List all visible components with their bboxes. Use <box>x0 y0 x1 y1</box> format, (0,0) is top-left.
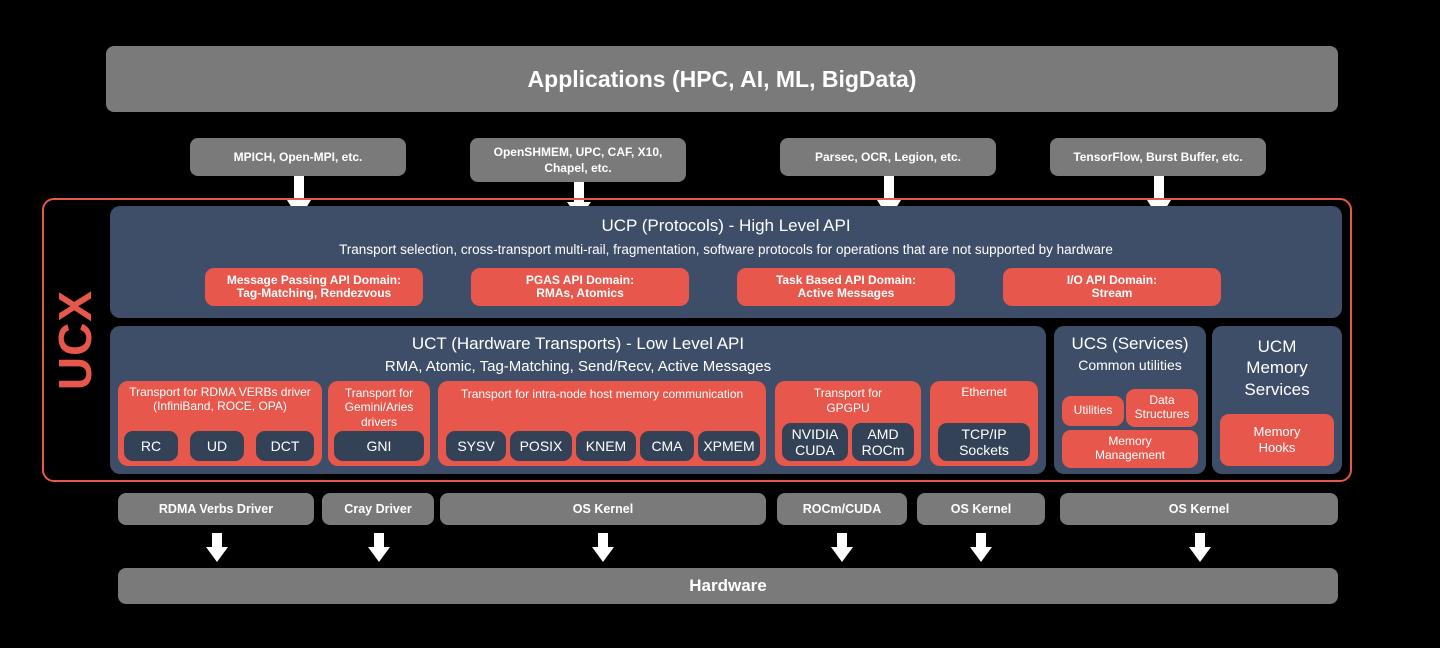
driver-label: ROCm/CUDA <box>803 502 881 516</box>
framework-box-openshmem[interactable]: OpenSHMEM, UPC, CAF, X10, Chapel, etc. <box>470 138 686 182</box>
arrow-down-driver-os-kernel-1 <box>591 533 615 563</box>
arrow-down-driver-os-kernel-3 <box>1188 533 1212 563</box>
uct-transport-xpmem[interactable]: XPMEM <box>698 431 760 461</box>
uct-transport-label: CMA <box>651 438 682 454</box>
arrow-down-driver-cray <box>367 533 391 563</box>
ucp-domain-label: PGAS API Domain: RMAs, Atomics <box>526 274 634 300</box>
uct-group-title: Transport for Gemini/Aries drivers <box>328 381 430 429</box>
uct-transport-gni[interactable]: GNI <box>334 431 424 461</box>
uct-transport-label: DCT <box>271 438 300 454</box>
driver-box-rocm-cuda[interactable]: ROCm/CUDA <box>777 493 907 525</box>
ucp-domain-label: Task Based API Domain: Active Messages <box>776 274 916 300</box>
ucm-title: UCM Memory Services <box>1212 326 1342 400</box>
framework-box-parsec[interactable]: Parsec, OCR, Legion, etc. <box>780 138 996 176</box>
ucx-side-label-wrap: UCX <box>40 250 110 430</box>
uct-transport-label: SYSV <box>457 438 494 454</box>
uct-transport-label: POSIX <box>520 438 563 454</box>
ucp-domain-message-passing[interactable]: Message Passing API Domain: Tag-Matching… <box>205 268 423 306</box>
driver-label: OS Kernel <box>1169 502 1229 516</box>
framework-box-tensorflow[interactable]: TensorFlow, Burst Buffer, etc. <box>1050 138 1266 176</box>
arrow-down-driver-os-kernel-2 <box>969 533 993 563</box>
driver-label: OS Kernel <box>951 502 1011 516</box>
uct-transport-label: KNEM <box>586 438 626 454</box>
uct-transport-label: AMD ROCm <box>862 426 905 458</box>
ucs-item-label: Utilities <box>1074 404 1113 417</box>
ucs-subtitle: Common utilities <box>1054 354 1206 373</box>
framework-label: TensorFlow, Burst Buffer, etc. <box>1073 150 1242 164</box>
framework-box-mpich[interactable]: MPICH, Open-MPI, etc. <box>190 138 406 176</box>
driver-label: OS Kernel <box>573 502 633 516</box>
uct-group-title: Transport for GPGPU <box>775 381 921 416</box>
uct-transport-posix[interactable]: POSIX <box>510 431 572 461</box>
driver-label: RDMA Verbs Driver <box>159 502 273 516</box>
ucs-item-label: Memory Management <box>1095 435 1165 463</box>
ucp-domain-task-based[interactable]: Task Based API Domain: Active Messages <box>737 268 955 306</box>
uct-transport-label: NVIDIA CUDA <box>792 426 839 458</box>
hardware-bar-label: Hardware <box>689 576 766 596</box>
applications-bar-label: Applications (HPC, AI, ML, BigData) <box>528 66 917 93</box>
uct-transport-nvidia-cuda[interactable]: NVIDIA CUDA <box>782 423 848 461</box>
driver-box-os-kernel-1[interactable]: OS Kernel <box>440 493 766 525</box>
framework-label: MPICH, Open-MPI, etc. <box>234 150 363 164</box>
uct-transport-cma[interactable]: CMA <box>640 431 694 461</box>
uct-transport-knem[interactable]: KNEM <box>576 431 636 461</box>
ucs-item-data-structures[interactable]: Data Structures <box>1126 389 1198 427</box>
uct-group-title: Transport for RDMA VERBs driver (InfiniB… <box>118 381 322 414</box>
ucp-title: UCP (Protocols) - High Level API <box>110 206 1342 236</box>
uct-transport-tcpip-sockets[interactable]: TCP/IP Sockets <box>938 423 1030 461</box>
uct-transport-label: XPMEM <box>703 438 754 454</box>
uct-transport-amd-rocm[interactable]: AMD ROCm <box>852 423 914 461</box>
driver-label: Cray Driver <box>344 502 411 516</box>
arrow-down-driver-rdma <box>205 533 229 563</box>
ucp-domain-label: Message Passing API Domain: Tag-Matching… <box>227 274 401 300</box>
ucs-title: UCS (Services) <box>1054 326 1206 354</box>
ucs-item-label: Data Structures <box>1135 394 1190 422</box>
ucp-subtitle: Transport selection, cross-transport mul… <box>110 236 1342 258</box>
uct-transport-label: RC <box>141 438 161 454</box>
uct-transport-ud[interactable]: UD <box>190 431 244 461</box>
ucp-domain-io[interactable]: I/O API Domain: Stream <box>1003 268 1221 306</box>
uct-transport-rc[interactable]: RC <box>124 431 178 461</box>
driver-box-rdma-verbs-driver[interactable]: RDMA Verbs Driver <box>118 493 314 525</box>
hardware-bar: Hardware <box>118 568 1338 604</box>
applications-bar: Applications (HPC, AI, ML, BigData) <box>106 46 1338 112</box>
uct-group-title: Transport for intra-node host memory com… <box>438 381 766 402</box>
ucm-item-label: Memory Hooks <box>1254 424 1301 455</box>
uct-transport-sysv[interactable]: SYSV <box>446 431 506 461</box>
uct-transport-label: GNI <box>367 438 392 454</box>
driver-box-os-kernel-2[interactable]: OS Kernel <box>917 493 1045 525</box>
uct-group-title: Ethernet <box>930 381 1038 400</box>
arrow-down-driver-rocm-cuda <box>830 533 854 563</box>
ucx-side-label: UCX <box>48 290 102 390</box>
uct-transport-dct[interactable]: DCT <box>256 431 314 461</box>
ucm-item-memory-hooks[interactable]: Memory Hooks <box>1220 414 1334 466</box>
framework-label: Parsec, OCR, Legion, etc. <box>815 150 961 164</box>
uct-title: UCT (Hardware Transports) - Low Level AP… <box>110 326 1046 354</box>
driver-box-cray-driver[interactable]: Cray Driver <box>322 493 434 525</box>
ucp-domain-pgas[interactable]: PGAS API Domain: RMAs, Atomics <box>471 268 689 306</box>
framework-label: OpenSHMEM, UPC, CAF, X10, Chapel, etc. <box>494 144 663 176</box>
uct-subtitle: RMA, Atomic, Tag-Matching, Send/Recv, Ac… <box>110 354 1046 375</box>
uct-transport-label: TCP/IP Sockets <box>959 426 1009 458</box>
ucs-item-utilities[interactable]: Utilities <box>1062 396 1124 426</box>
ucp-domain-label: I/O API Domain: Stream <box>1067 274 1157 300</box>
ucs-item-memory-management[interactable]: Memory Management <box>1062 430 1198 468</box>
driver-box-os-kernel-3[interactable]: OS Kernel <box>1060 493 1338 525</box>
uct-transport-label: UD <box>207 438 227 454</box>
